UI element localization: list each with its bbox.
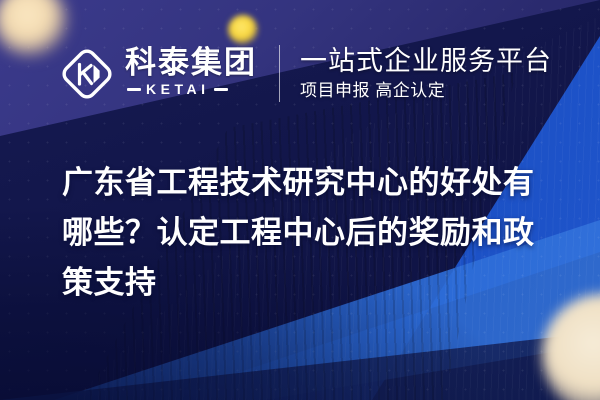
headline-title: 广东省工程技术研究中心的好处有哪些？认定工程中心后的奖励和政策支持 — [62, 158, 548, 308]
brand-name-en: KETAI — [146, 81, 209, 97]
tagline-main: 一站式企业服务平台 — [300, 46, 552, 77]
tagline-sub: 项目申报 高企认定 — [300, 80, 552, 101]
header-divider — [279, 45, 280, 102]
brand-dash-left — [127, 88, 141, 91]
brand-dash-right — [214, 88, 228, 91]
brand-lockup: 科泰集团 KETAI — [58, 44, 257, 103]
brand-name-en-row: KETAI — [125, 81, 257, 97]
tagline-block: 一站式企业服务平台 项目申报 高企认定 — [300, 46, 552, 101]
ketai-diamond-kt-logo-icon — [58, 45, 116, 103]
brand-text: 科泰集团 KETAI — [125, 44, 257, 97]
promo-banner: 科泰集团 KETAI 一站式企业服务平台 项目申报 高企认定 广东省工程技术研究… — [0, 0, 600, 400]
brand-name-cn: 科泰集团 — [125, 46, 257, 80]
banner-header: 科泰集团 KETAI 一站式企业服务平台 项目申报 高企认定 — [58, 44, 552, 103]
